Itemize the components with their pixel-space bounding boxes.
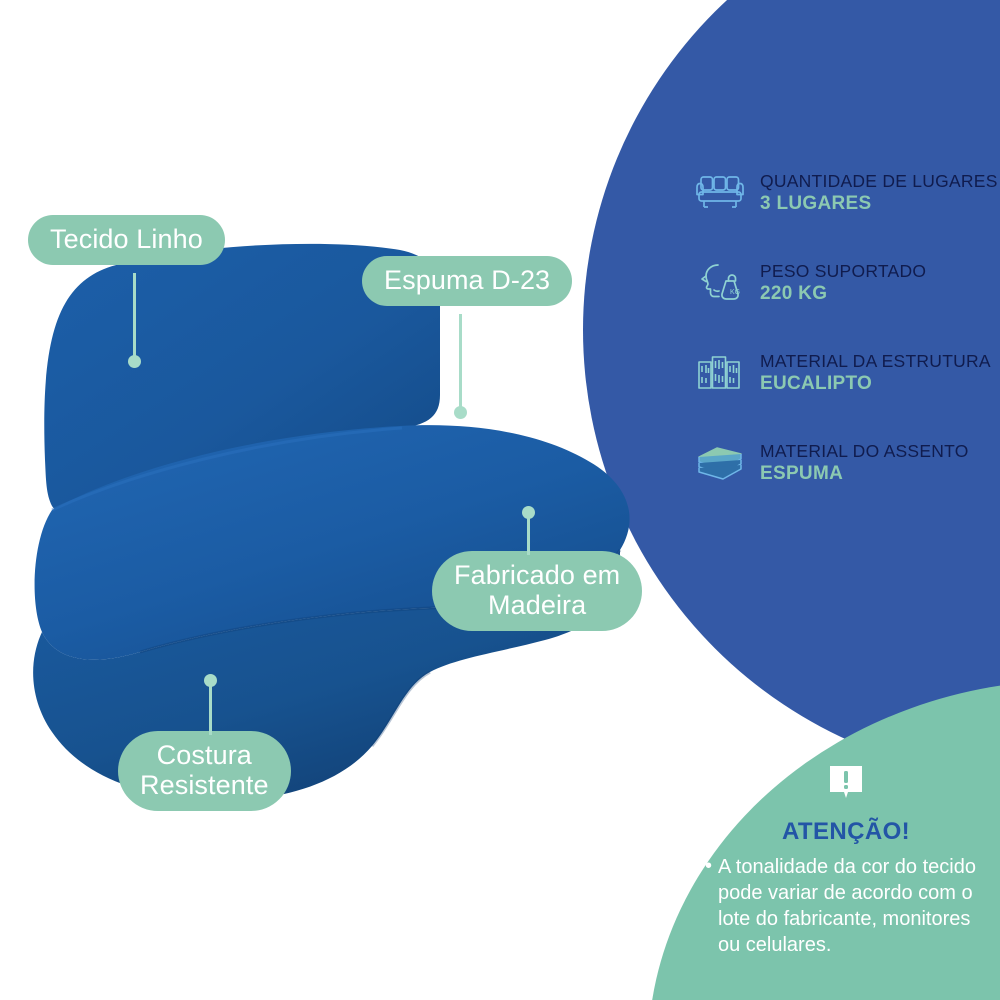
- bullet-icon: •: [705, 853, 712, 879]
- spec-value: EUCALIPTO: [760, 372, 991, 396]
- spec-label: MATERIAL DO ASSENTO: [760, 442, 969, 461]
- specifications-list: QUANTIDADE DE LUGARES 3 LUGARES KG PESO …: [694, 170, 994, 530]
- weight-kg-icon: KG: [694, 260, 746, 308]
- leader-line: [459, 314, 462, 412]
- foam-layers-icon: [694, 440, 746, 488]
- infographic-canvas: Tecido Linho Espuma D-23 Fabricado em Ma…: [0, 0, 1000, 1000]
- callout-espuma-label: Espuma D-23: [362, 256, 572, 306]
- spec-value: 220 KG: [760, 282, 926, 306]
- spec-row-material-da-estrutura: MATERIAL DA ESTRUTURA EUCALIPTO: [694, 350, 994, 398]
- leader-dot-icon: [204, 674, 217, 687]
- attention-block: ATENÇÃO! • A tonalidade da cor do tecido…: [700, 760, 992, 958]
- spec-row-quantidade-de-lugares: QUANTIDADE DE LUGARES 3 LUGARES: [694, 170, 994, 218]
- spec-row-material-do-assento: MATERIAL DO ASSENTO ESPUMA: [694, 440, 994, 488]
- callout-tecido-label: Tecido Linho: [28, 215, 225, 265]
- attention-text: A tonalidade da cor do tecido pode varia…: [718, 856, 976, 956]
- spec-label: PESO SUPORTADO: [760, 262, 926, 281]
- callout-madeira: Fabricado em Madeira: [432, 551, 642, 631]
- leader-dot-icon: [128, 355, 141, 368]
- leader-line: [209, 681, 212, 735]
- spec-label: MATERIAL DA ESTRUTURA: [760, 352, 991, 371]
- spec-row-peso-suportado: KG PESO SUPORTADO 220 KG: [694, 260, 994, 308]
- sofa-illustration: [0, 180, 680, 820]
- leader-dot-icon: [522, 506, 535, 519]
- attention-title: ATENÇÃO!: [700, 818, 992, 846]
- callout-tecido: Tecido Linho: [28, 215, 225, 265]
- callout-costura: Costura Resistente: [118, 731, 291, 811]
- spec-value: 3 LUGARES: [760, 192, 998, 216]
- callout-costura-label: Costura Resistente: [118, 731, 291, 811]
- sofa-icon: [694, 170, 746, 218]
- wood-frame-icon: [694, 350, 746, 398]
- callout-madeira-label: Fabricado em Madeira: [432, 551, 642, 631]
- callout-espuma: Espuma D-23: [362, 256, 572, 306]
- svg-text:KG: KG: [730, 289, 740, 296]
- leader-dot-icon: [454, 406, 467, 419]
- attention-text-wrap: • A tonalidade da cor do tecido pode var…: [700, 854, 992, 958]
- spec-value: ESPUMA: [760, 462, 969, 486]
- leader-line: [527, 513, 530, 555]
- spec-label: QUANTIDADE DE LUGARES: [760, 172, 998, 191]
- leader-line: [133, 273, 136, 361]
- exclamation-bubble-icon: [700, 760, 992, 804]
